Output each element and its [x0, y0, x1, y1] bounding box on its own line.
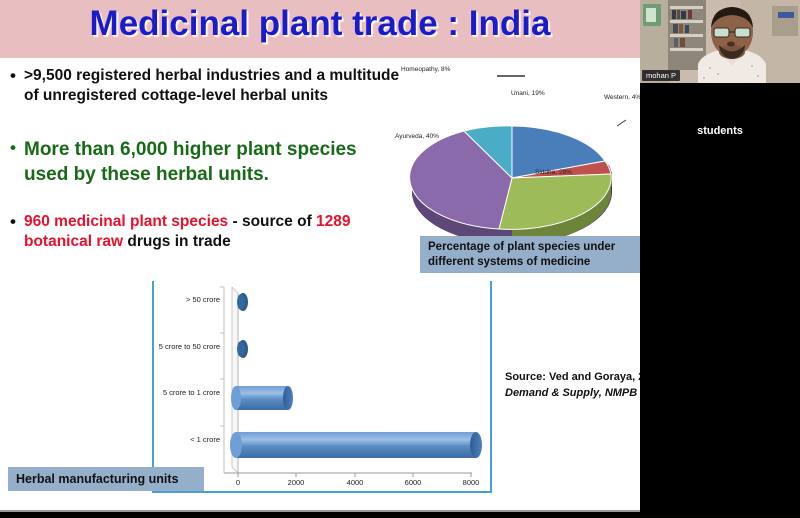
bar-xtick-0: 0 [226, 478, 250, 487]
page-title: Medicinal plant trade : India [0, 4, 640, 44]
bullet-item-2: • More than 6,000 higher plant species u… [10, 138, 390, 187]
slide-title-banner: Medicinal plant trade : India [0, 0, 686, 58]
bar-chart: > 50 crore 5 crore to 50 crore 5 crore t… [152, 281, 497, 496]
bullet-text-1: >9,500 registered herbal industries and … [24, 66, 410, 106]
bar-xtick-2000: 2000 [282, 478, 310, 487]
bar-xtick-6000: 6000 [399, 478, 427, 487]
bullet-item-1: • >9,500 registered herbal industries an… [10, 66, 410, 106]
bar-category-label-lt-1-crore: < 1 crore [144, 435, 220, 444]
pie-leader-western [617, 120, 626, 126]
bullet-text-3: 960 medicinal plant species - source of … [24, 212, 390, 252]
bar-xtick-4000: 4000 [341, 478, 369, 487]
bar-xtick-8000: 8000 [457, 478, 485, 487]
bar-category-label-5-to-1-crore: 5 crore to 1 crore [124, 388, 220, 397]
bullet-item-3: • 960 medicinal plant species - source o… [10, 212, 390, 252]
bar-gt-50-crore [237, 293, 248, 311]
bullet-marker: • [10, 212, 24, 232]
bullet-text-2: More than 6,000 higher plant species use… [24, 138, 390, 187]
shared-slide: Medicinal plant trade : India • >9,500 r… [0, 0, 686, 512]
meeting-background [640, 184, 800, 518]
bullet3-seg-4: drugs in trade [123, 233, 231, 250]
pie-label-unani: Unani, 19% [511, 90, 545, 98]
bar-category-label-gt-50-crore: > 50 crore [142, 295, 220, 304]
meeting-screen: Medicinal plant trade : India • >9,500 r… [0, 0, 800, 518]
bullet-marker: • [10, 66, 24, 86]
bar-5-to-1-crore [231, 386, 293, 410]
pie-label-siddha: Siddha, 29% [535, 169, 572, 177]
bottom-bar [0, 512, 800, 518]
pie-label-ayurveda: Ayurveda, 40% [395, 133, 439, 141]
pie-chart: Homeopathy, 8% Unani, 19% Western, 4% Ay… [385, 60, 640, 240]
pie-label-homeopathy: Homeopathy, 8% [401, 66, 450, 74]
bar-category-label-5-to-50-crore: 5 crore to 50 crore [122, 342, 220, 351]
pie-chart-svg [385, 60, 640, 240]
bar-chart-caption: Herbal manufacturing units [8, 467, 204, 491]
video-tile-speaker[interactable]: mohan P [640, 0, 800, 83]
bar-5-to-50-crore [237, 340, 248, 358]
bullet3-seg-2: - source of [228, 213, 316, 230]
pie-chart-caption: Percentage of plant species under differ… [420, 236, 668, 273]
participant-name-badge: mohan P [642, 70, 680, 81]
students-tile-label: students [640, 125, 800, 137]
bullet3-seg-1: 960 medicinal plant species [24, 213, 228, 230]
pie-label-western: Western, 4% [604, 94, 641, 102]
bar-lt-1-crore [230, 432, 482, 458]
bullet-marker: • [10, 138, 24, 158]
video-tile-students[interactable]: students [640, 83, 800, 184]
